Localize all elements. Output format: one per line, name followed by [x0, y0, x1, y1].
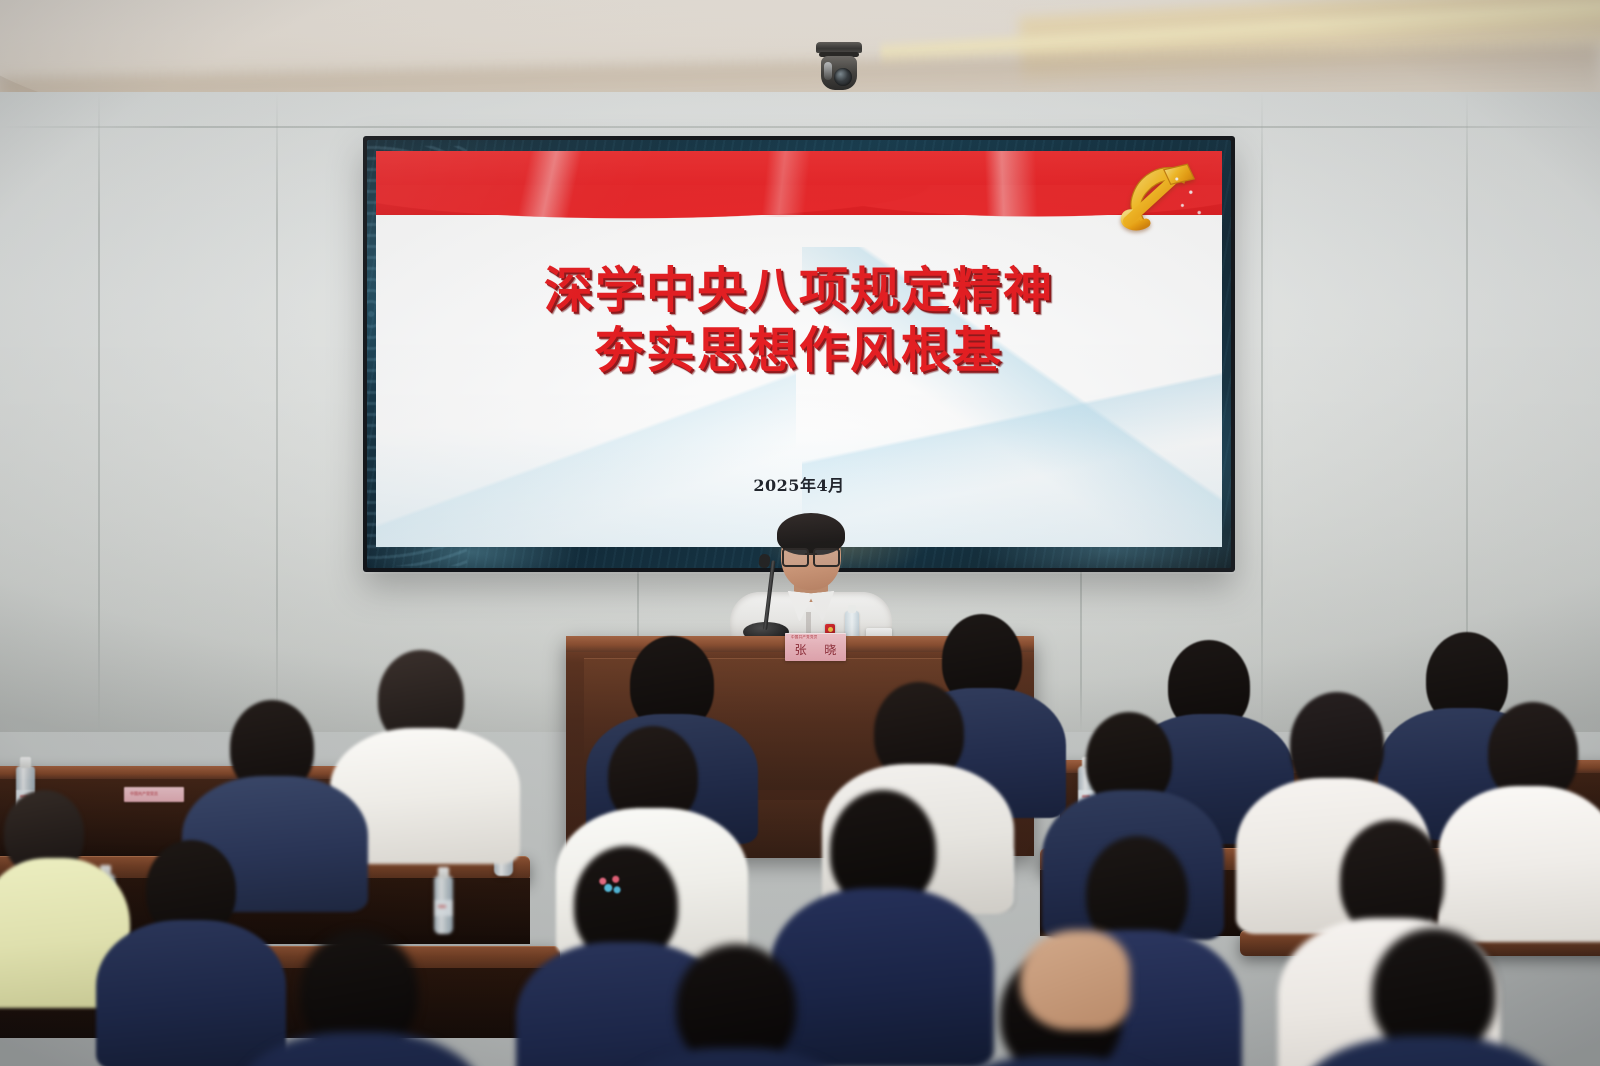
table-nameplate-left: 中国共产党党员: [124, 787, 184, 802]
microphone-stem: [763, 560, 776, 630]
gooseneck-microphone: [745, 560, 785, 642]
camera-highlight: [824, 62, 832, 80]
screen-panel: 深学中央八项规定精神 夯实思想作风根基 2025年4月: [367, 140, 1231, 568]
ptz-dome-camera: [816, 42, 862, 98]
lens-left: [782, 548, 809, 567]
emblem-sparkle: [1160, 167, 1216, 227]
presentation-slide: 深学中央八项规定精神 夯实思想作风根基 2025年4月: [376, 151, 1222, 547]
lens-right: [813, 548, 840, 567]
nameplate-org-text: 中国共产党党员: [791, 635, 818, 640]
conference-hall-photo: 深学中央八项规定精神 夯实思想作风根基 2025年4月 中国共产党党员: [0, 0, 1600, 1066]
slide-subtitle: 夯实思想作风根基: [376, 319, 1222, 383]
glasses-bridge: [805, 553, 817, 555]
speaker-nameplate: 中国共产党党员 张 晓: [785, 633, 846, 661]
slide-date: 2025年4月: [376, 472, 1222, 496]
desk-edge: [0, 766, 380, 779]
water-bottle: [434, 876, 453, 934]
bottle-label: [434, 900, 453, 916]
audience-hand: [1020, 930, 1130, 1030]
microphone-head: [758, 553, 771, 568]
slide-title: 深学中央八项规定精神: [376, 259, 1222, 323]
table-nameplate-text: 中国共产党党员: [130, 791, 158, 797]
eyeglasses-icon: [782, 548, 840, 563]
led-display-screen: 深学中央八项规定精神 夯实思想作风根基 2025年4月: [363, 136, 1235, 572]
person-torso: [1438, 786, 1600, 942]
nameplate-name-text: 张 晓: [785, 641, 846, 658]
person-torso: [96, 920, 286, 1066]
hair-clip: [596, 874, 630, 898]
person-torso: [770, 888, 994, 1066]
camera-lens-icon: [834, 68, 852, 86]
